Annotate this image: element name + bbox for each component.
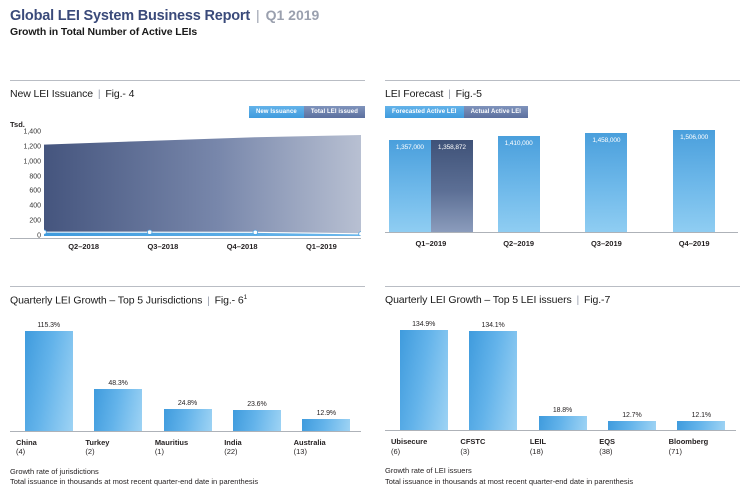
x-axis-tick-label: Q2–2018 [44,242,123,251]
chart-fig7-bars: 134.9%134.1%18.8%12.7%12.1% Ubisecure(6)… [385,312,740,462]
bar-forecasted-active-lei[interactable]: 1,506,000 [673,130,715,232]
bar-actual-active-lei[interactable]: 1,358,872 [431,140,473,232]
panel-divider [10,80,365,81]
bar-value-label: 134.1% [482,322,505,329]
panel-title-new-lei-issuance: New LEI Issuance | Fig.- 4 [10,88,365,100]
bar-column: 134.9% [389,312,458,430]
y-axis-tick: 400 [29,203,41,210]
bar-mauritius[interactable] [164,409,212,431]
panel-title-text: LEI Forecast [385,88,443,100]
bar-column: 23.6% [222,313,291,431]
category-name: Turkey [85,438,152,447]
category-count: (18) [530,447,597,456]
category-label: Australia(13) [292,438,361,457]
bar-column: 115.3% [14,313,83,431]
page-subtitle: Growth in Total Number of Active LEIs [10,26,740,38]
category-label: CFSTC(3) [458,437,527,456]
bar-leil[interactable] [539,416,587,430]
bar-value-label: 1,458,000 [585,137,627,144]
x-axis-labels: China(4)Turkey(2)Mauritius(1)India(22)Au… [14,438,361,457]
category-count: (71) [669,447,736,456]
bar-column: 134.1% [458,312,527,430]
category-name: CFSTC [460,437,527,446]
bar-value-label: 1,358,872 [431,144,473,151]
panel-divider [10,286,365,287]
category-label: EQS(38) [597,437,666,456]
data-point-marker [147,230,152,234]
report-title-line: Global LEI System Business Report | Q1 2… [10,7,740,24]
bar-value-label: 1,410,000 [498,140,540,147]
fig5-plot-area: 1,357,0001,358,8721,410,0001,458,0001,50… [387,122,738,232]
category-count: (22) [224,447,291,456]
bar-column: 48.3% [83,313,152,431]
panel-figure-label: Fig.-5 [456,88,482,100]
note-total-issuance: Total issuance in thousands at most rece… [385,477,740,488]
fig4-plot-area [44,132,361,236]
bar-value-label: 115.3% [37,322,60,329]
bar-group: 1,458,000 [563,133,651,232]
y-axis-tick: 800 [29,173,41,180]
category-label: LEIL(18) [528,437,597,456]
bar-column: 12.7% [597,312,666,430]
category-count: (2) [85,447,152,456]
bar-value-label: 12.7% [622,412,641,419]
legend-item-forecasted-active-lei[interactable]: Forecasted Active LEI [385,106,464,118]
legend-new-lei-issuance: New Issuance Total LEI issued [249,106,365,118]
x-axis-line [10,238,361,239]
bar-value-label: 12.9% [317,410,336,417]
category-name: Australia [294,438,361,447]
x-axis-tick-label: Q3–2019 [563,239,651,248]
bar-cfstc[interactable] [469,331,517,430]
panel-title-separator: | [96,88,103,100]
panel-title-separator: | [446,88,453,100]
note-growth-rate: Growth rate of jurisdictions [10,467,365,478]
bar-china[interactable] [25,331,73,431]
category-label: India(22) [222,438,291,457]
category-label: Ubisecure(6) [389,437,458,456]
panel-title-text: Quarterly LEI Growth – Top 5 LEI issuers [385,294,572,306]
data-point-marker [359,232,361,236]
page-title: Global LEI System Business Report [10,8,250,24]
bar-australia[interactable] [302,419,350,430]
category-count: (3) [460,447,527,456]
footnote-marker: 1 [244,294,248,301]
y-axis-tick: 1,000 [23,158,41,165]
bar-value-label: 1,357,000 [389,144,431,151]
notes-jurisdictions: Growth rate of jurisdictions Total issua… [0,467,375,495]
x-axis-tick-label: Q4–2019 [650,239,738,248]
panel-lei-forecast: LEI Forecast | Fig.-5 Forecasted Active … [375,80,750,280]
legend-item-total-lei-issued[interactable]: Total LEI issued [304,106,365,118]
x-axis-tick-label: Q2–2019 [475,239,563,248]
category-label: China(4) [14,438,83,457]
bar-column: 12.9% [292,313,361,431]
title-separator: | [256,7,260,23]
bar-value-label: 134.9% [412,321,435,328]
x-axis-tick-label: Q4–2018 [203,242,282,251]
notes-issuers: Growth rate of LEI issuers Total issuanc… [375,466,750,488]
fig7-plot-area: 134.9%134.1%18.8%12.7%12.1% [389,312,736,430]
category-count: (38) [599,447,666,456]
y-axis-tick: 1,200 [23,143,41,150]
bar-turkey[interactable] [94,389,142,431]
category-name: Mauritius [155,438,222,447]
chart-fig4-area: Tsd. 1,4001,2001,0008006004002000 [10,120,365,242]
bar-eqs[interactable] [608,421,656,430]
x-axis-tick-label: Q1–2019 [387,239,475,248]
category-label: Bloomberg(71) [667,437,736,456]
category-name: LEIL [530,437,597,446]
category-name: China [16,438,83,447]
bar-value-label: 23.6% [247,401,266,408]
category-name: India [224,438,291,447]
category-count: (1) [155,447,222,456]
bar-forecasted-active-lei[interactable]: 1,458,000 [585,133,627,232]
x-axis-line [385,430,736,431]
panel-title-separator: | [574,294,581,306]
category-count: (13) [294,447,361,456]
bar-column: 12.1% [667,312,736,430]
panel-title-text: Quarterly LEI Growth – Top 5 Jurisdictio… [10,295,202,307]
bar-forecasted-active-lei[interactable]: 1,410,000 [498,136,540,232]
report-page: Global LEI System Business Report | Q1 2… [0,0,750,495]
x-axis-tick-label: Q3–2018 [123,242,202,251]
panel-title-text: New LEI Issuance [10,88,93,100]
bar-value-label: 12.1% [692,412,711,419]
x-axis-line [10,431,361,432]
x-axis-labels: Q2–2018Q3–2018Q4–2018Q1–2019 [44,242,361,251]
bar-group: 1,410,000 [475,136,563,232]
report-header: Global LEI System Business Report | Q1 2… [0,0,750,38]
category-count: (6) [391,447,458,456]
panel-top-issuers: Quarterly LEI Growth – Top 5 LEI issuers… [375,286,750,495]
y-axis-tick: 600 [29,188,41,195]
y-axis-ticks: 1,4001,2001,0008006004002000 [10,132,44,236]
bar-value-label: 1,506,000 [673,134,715,141]
panel-title-separator: | [205,295,212,307]
report-quarter: Q1 2019 [266,7,320,23]
bar-column: 24.8% [153,313,222,431]
bar-ubisecure[interactable] [400,330,448,430]
bar-column: 18.8% [528,312,597,430]
bar-group: 1,506,000 [650,130,738,232]
category-name: Ubisecure [391,437,458,446]
legend-item-actual-active-lei[interactable]: Actual Active LEI [464,106,529,118]
category-label: Mauritius(1) [153,438,222,457]
bar-value-label: 48.3% [108,380,127,387]
category-name: EQS [599,437,666,446]
panel-title-issuers: Quarterly LEI Growth – Top 5 LEI issuers… [385,294,740,306]
fig4-svg [44,132,361,236]
x-axis-tick-label: Q1–2019 [282,242,361,251]
bar-bloomberg[interactable] [677,421,725,430]
legend-item-new-issuance[interactable]: New Issuance [249,106,304,118]
note-growth-rate: Growth rate of LEI issuers [385,466,740,477]
y-axis-tick: 1,400 [23,129,41,136]
panel-figure-label: Fig.- 6 [215,295,244,307]
x-axis-line [385,232,738,233]
bar-group: 1,357,0001,358,872 [387,140,475,232]
x-axis-labels: Q1–2019Q2–2019Q3–2019Q4–2019 [387,239,738,248]
category-label: Turkey(2) [83,438,152,457]
panel-divider [385,80,740,81]
bar-value-label: 24.8% [178,400,197,407]
legend-lei-forecast: Forecasted Active LEI Actual Active LEI [385,106,528,118]
data-point-marker [253,230,258,234]
panel-new-lei-issuance: New LEI Issuance | Fig.- 4 New Issuance … [0,80,375,280]
y-axis-tick: 200 [29,218,41,225]
x-axis-labels: Ubisecure(6)CFSTC(3)LEIL(18)EQS(38)Bloom… [389,437,736,456]
bar-india[interactable] [233,410,281,430]
bar-forecasted-active-lei[interactable]: 1,357,000 [389,140,431,232]
fig6-plot-area: 115.3%48.3%24.8%23.6%12.9% [14,313,361,431]
category-name: Bloomberg [669,437,736,446]
category-count: (4) [16,447,83,456]
panel-top-jurisdictions: Quarterly LEI Growth – Top 5 Jurisdictio… [0,286,375,495]
panel-title-lei-forecast: LEI Forecast | Fig.-5 [385,88,740,100]
panel-title-jurisdictions: Quarterly LEI Growth – Top 5 Jurisdictio… [10,294,365,307]
panel-figure-label: Fig.-7 [584,294,610,306]
chart-fig5-bars: 1,357,0001,358,8721,410,0001,458,0001,50… [385,122,740,248]
bar-value-label: 18.8% [553,407,572,414]
data-point-marker [44,230,46,234]
chart-fig6-bars: 115.3%48.3%24.8%23.6%12.9% China(4)Turke… [10,313,365,463]
note-total-issuance: Total issuance in thousands at most rece… [10,477,365,488]
panel-divider [385,286,740,287]
panel-figure-label: Fig.- 4 [105,88,134,100]
